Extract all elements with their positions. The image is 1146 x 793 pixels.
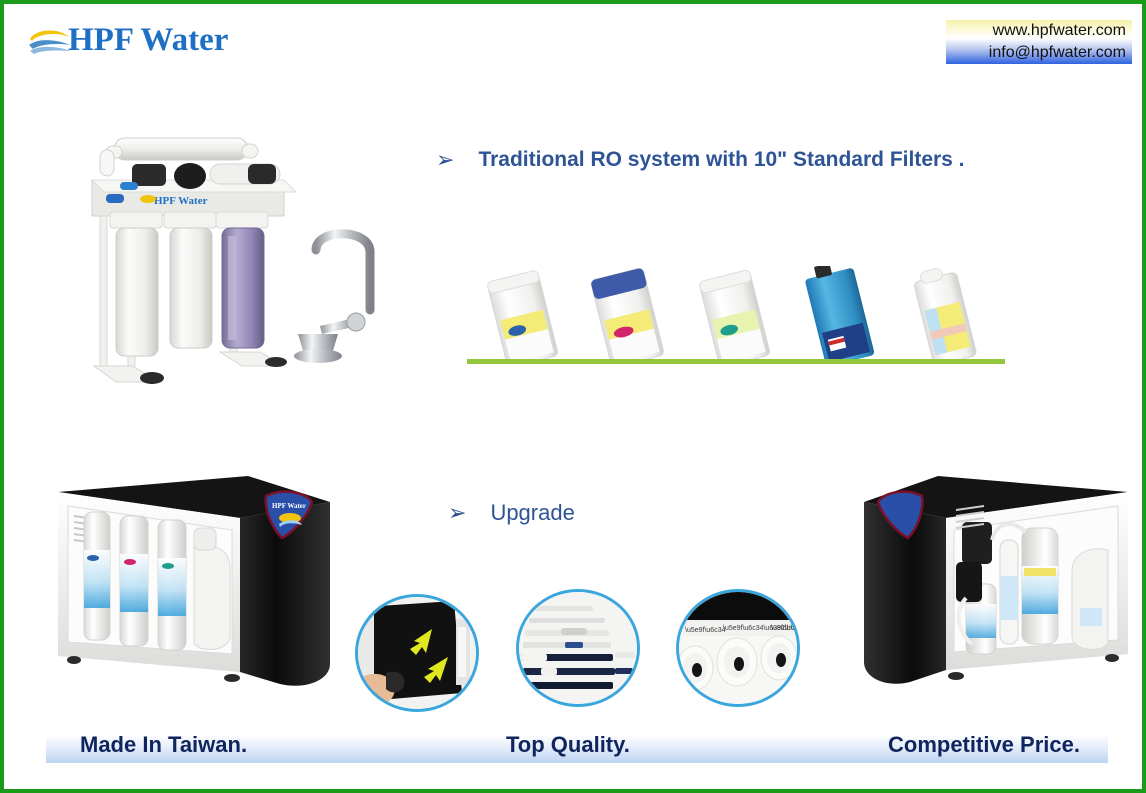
arrow-bullet-icon: ➢ xyxy=(436,149,454,171)
callout-vent-slots-image xyxy=(519,592,637,704)
callout-open-panel-image xyxy=(358,597,476,709)
slide-frame: HPF Water www.hpfwater.com info@hpfwater… xyxy=(0,0,1146,793)
svg-text:HPF Water: HPF Water xyxy=(154,195,208,207)
footer-item-top-quality: Top Quality. xyxy=(506,732,630,758)
callout-open-panel xyxy=(355,594,479,712)
svg-text:\u8fdb\u6c34: \u8fdb\u6c34 xyxy=(771,625,797,632)
callout-quick-connectors-image: \u5e9f\u6c34 \u5e9f\u6c34\u6392\u653e \u… xyxy=(679,592,797,704)
contact-box: www.hpfwater.com info@hpfwater.com xyxy=(946,20,1132,64)
callout-quick-connectors: \u5e9f\u6c34 \u5e9f\u6c34\u6392\u653e \u… xyxy=(676,589,800,707)
footer-banner: Made In Taiwan. Top Quality. Competitive… xyxy=(46,727,1108,763)
email-text[interactable]: info@hpfwater.com xyxy=(946,42,1126,64)
bullet-text: Traditional RO system with 10" Standard … xyxy=(478,148,964,172)
cabinet-unit-front-left: HPF Water xyxy=(44,458,340,708)
callout-vent-slots xyxy=(516,589,640,707)
brand-logo: HPF Water xyxy=(26,20,256,68)
svg-text:HPF Water: HPF Water xyxy=(272,502,306,510)
sun-wave-logo-icon xyxy=(26,26,74,58)
filter-baseline-divider xyxy=(467,359,1005,364)
bullet-traditional-ro: ➢ Traditional RO system with 10" Standar… xyxy=(436,148,965,172)
svg-text:\u5e9f\u6c34: \u5e9f\u6c34 xyxy=(685,627,726,634)
cabinet-unit-front-right xyxy=(854,458,1142,706)
footer-item-competitive-price: Competitive Price. xyxy=(888,732,1080,758)
arrow-bullet-icon: ➢ xyxy=(448,502,466,524)
filter-cartridge-row xyxy=(478,266,1008,364)
bullet-text: Upgrade xyxy=(490,500,574,526)
bullet-upgrade: ➢ Upgrade xyxy=(448,500,575,526)
website-text[interactable]: www.hpfwater.com xyxy=(946,20,1126,42)
brand-name: HPF Water xyxy=(68,22,228,59)
ro-system-photo: HPF Water xyxy=(70,120,420,405)
footer-item-made-in-taiwan: Made In Taiwan. xyxy=(80,732,247,758)
slide-content: HPF Water www.hpfwater.com info@hpfwater… xyxy=(8,8,1138,785)
